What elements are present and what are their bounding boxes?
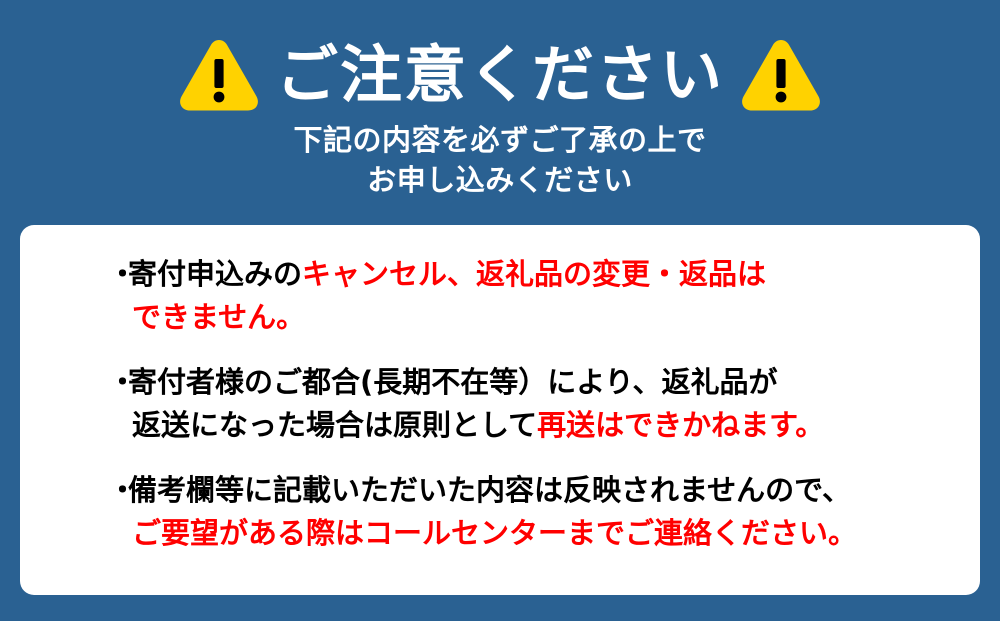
bullet-icon: ・ [108,253,137,296]
note-line: 返送になった場合は原則として再送はできかねます。 [110,404,964,447]
warning-triangle-icon [178,37,260,113]
subtitle-line-2: お申し込みください [0,160,1000,200]
note-text-plain: 備考欄等に記載いただいた内容は反映されませんので、 [128,473,851,507]
note-text-alert: キャンセル、返礼品の変更・返品は [302,257,766,291]
note-text-plain: 寄付申込みの [128,257,302,291]
note-line: できません。 [110,296,964,339]
note-line: 寄付者様のご都合(長期不在等）により、返礼品が [110,361,964,404]
note-text-plain: 寄付者様のご都合(長期不在等）により、返礼品が [128,365,778,399]
note-line: ご要望がある際はコールセンターまでご連絡ください。 [110,512,964,555]
note-text-plain: 返送になった場合は原則として [132,408,537,442]
page-title: ご注意ください [276,37,724,113]
note-text-alert: 再送はできかねます。 [537,408,824,442]
banner-subtitle: 下記の内容を必ずご了承の上で お申し込みください [0,120,1000,200]
bullet-icon: ・ [108,469,137,512]
note-line: 寄付申込みのキャンセル、返礼品の変更・返品は [110,253,964,296]
note-text-alert: できません。 [132,300,305,334]
notice-banner: ご注意ください 下記の内容を必ずご了承の上で お申し込みください ・ 寄付申込み… [0,0,1000,621]
subtitle-line-1: 下記の内容を必ずご了承の上で [0,120,1000,160]
note-item: ・ 備考欄等に記載いただいた内容は反映されませんので、 ご要望がある際はコールセ… [20,469,980,555]
note-item: ・ 寄付申込みのキャンセル、返礼品の変更・返品は できません。 [20,253,980,339]
bullet-icon: ・ [108,361,137,404]
note-line: 備考欄等に記載いただいた内容は反映されませんので、 [110,469,964,512]
title-row: ご注意ください [0,32,1000,118]
banner-header: ご注意ください 下記の内容を必ずご了承の上で お申し込みください [0,0,1000,225]
note-text-alert: ご要望がある際はコールセンターまでご連絡ください。 [132,516,857,550]
warning-triangle-icon [740,37,822,113]
notes-list: ・ 寄付申込みのキャンセル、返礼品の変更・返品は できません。 ・ 寄付者様のご… [20,253,980,555]
notes-card: ・ 寄付申込みのキャンセル、返礼品の変更・返品は できません。 ・ 寄付者様のご… [20,225,980,595]
note-item: ・ 寄付者様のご都合(長期不在等）により、返礼品が 返送になった場合は原則として… [20,361,980,447]
